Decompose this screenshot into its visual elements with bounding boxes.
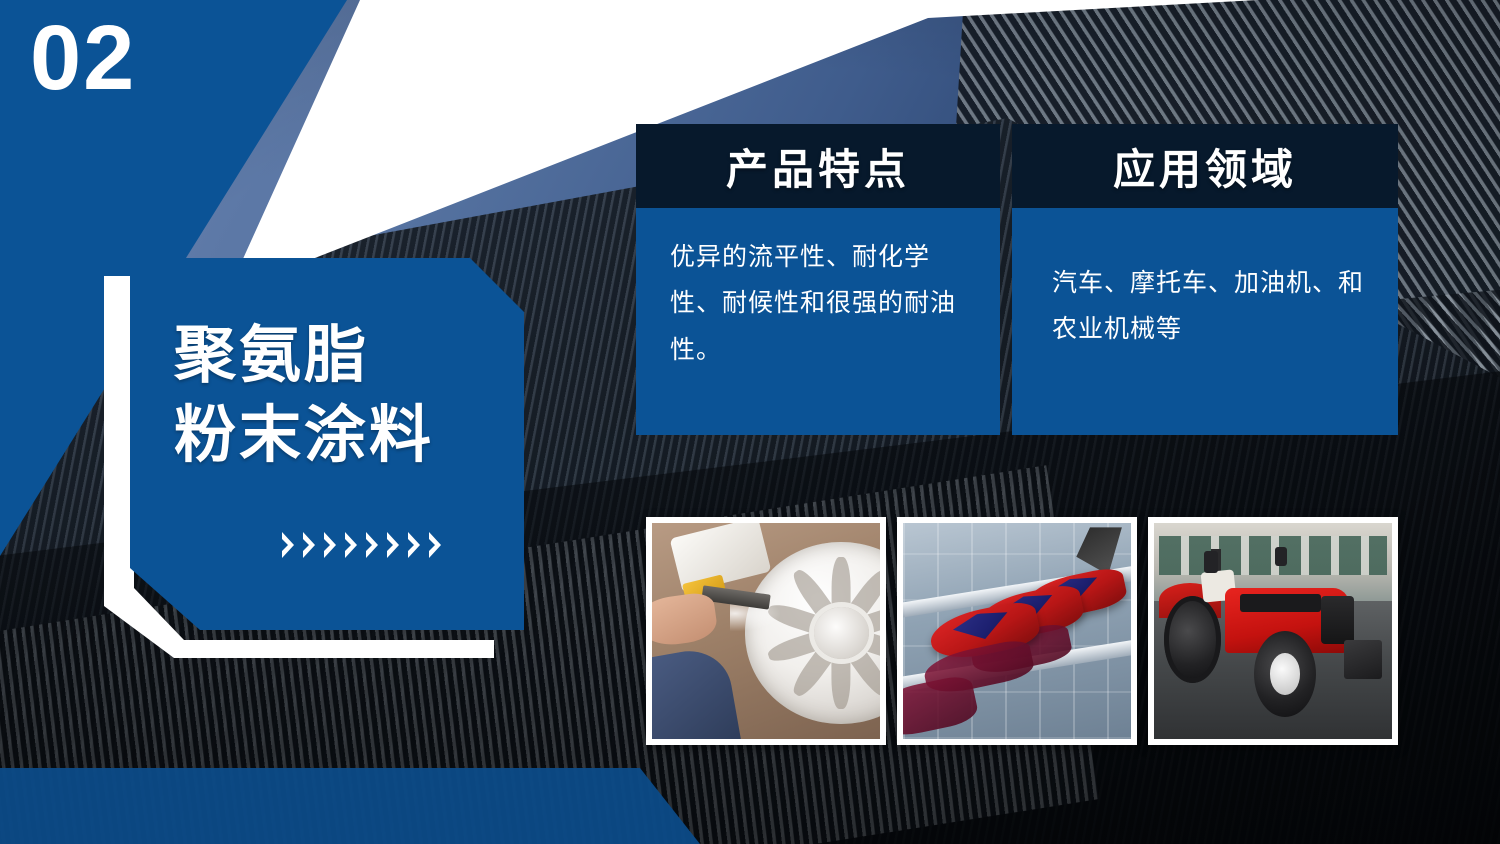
panel-body-features: 优异的流平性、耐化学性、耐候性和很强的耐油性。 (636, 208, 1000, 435)
chevron-arrow-row (280, 530, 445, 565)
photo-coating-line-content (903, 523, 1131, 739)
title-card-group: 聚氨脂 粉末涂料 (104, 258, 524, 658)
chevron-right-icon (364, 530, 382, 565)
tractor-mirror-right (1275, 547, 1287, 566)
chevron-right-icon (406, 530, 424, 565)
product-title: 聚氨脂 粉末涂料 (174, 324, 514, 466)
section-number: 02 (30, 12, 136, 104)
tractor-grille (1321, 596, 1354, 644)
chevron-right-icon (322, 530, 340, 565)
photo-tractor-content (1154, 523, 1392, 739)
chevron-right-icon (280, 530, 298, 565)
tractor-rear-wheel (1164, 596, 1221, 682)
alloy-wheel-center (814, 607, 869, 659)
product-title-line-1: 聚氨脂 (174, 318, 369, 391)
panel-product-features: 产品特点 优异的流平性、耐化学性、耐候性和很强的耐油性。 (636, 124, 1000, 435)
tractor-front-hubcap (1270, 653, 1300, 694)
panel-heading-applications: 应用领域 (1012, 124, 1398, 208)
photo-coating-line (897, 517, 1137, 745)
slide-canvas: 02 聚氨脂 粉末涂料 产品特点 优异的流平性、耐化学性、耐候性和很强的耐油性。… (0, 0, 1500, 844)
tractor-hood-decal (1240, 594, 1321, 611)
product-title-card: 聚氨脂 粉末涂料 (130, 258, 524, 630)
chevron-right-icon (301, 530, 319, 565)
chevron-right-icon (427, 530, 445, 565)
chevron-right-icon (343, 530, 361, 565)
tractor-background-windows (1159, 536, 1387, 575)
tractor-mirror-left (1204, 551, 1218, 573)
tractor-front-wheel (1254, 631, 1316, 717)
panel-body-applications: 汽车、摩托车、加油机、和农业机械等 (1012, 208, 1398, 435)
product-title-line-2: 粉末涂料 (174, 404, 514, 466)
panel-application-fields: 应用领域 汽车、摩托车、加油机、和农业机械等 (1012, 124, 1398, 435)
panel-heading-features: 产品特点 (636, 124, 1000, 208)
photo-wheel-content (652, 523, 880, 739)
photo-wheel-coating (646, 517, 886, 745)
tractor-front-hitch (1344, 640, 1382, 679)
photo-tractor (1148, 517, 1398, 745)
title-frame-left-edge (104, 276, 134, 606)
chevron-right-icon (385, 530, 403, 565)
